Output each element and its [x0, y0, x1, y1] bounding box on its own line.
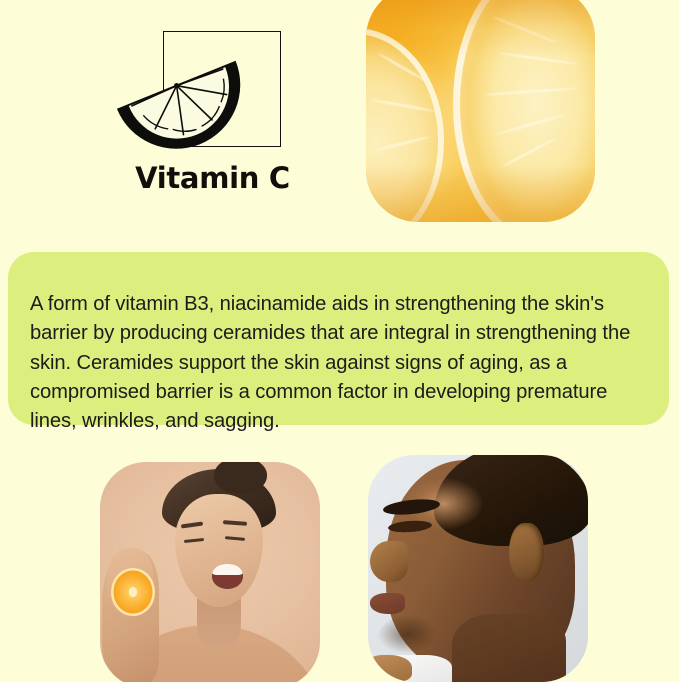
description-panel: A form of vitamin B3, niacinamide aids i…: [8, 252, 669, 425]
man-profile-photo: [368, 455, 588, 682]
man-fingers: [368, 655, 412, 682]
lemon-wedge-icon: [108, 34, 253, 154]
product-info-graphic: Vitamin C A form of vitamin B3, niacinam…: [0, 0, 679, 682]
woman-teeth: [212, 564, 243, 575]
logo-caption: Vitamin C: [0, 160, 340, 196]
lemon-photo-top-shadow: [366, 0, 595, 57]
man-nose: [370, 541, 407, 582]
vitamin-c-logo: Vitamin C: [0, 0, 340, 215]
man-ear: [509, 523, 544, 582]
woman-holding-orange-photo: [100, 462, 320, 682]
orange-half-icon: [111, 568, 155, 615]
lemon-photo-bottom-shadow: [366, 165, 595, 222]
woman-mouth: [212, 564, 243, 589]
description-text: A form of vitamin B3, niacinamide aids i…: [30, 290, 652, 436]
man-lips: [370, 593, 405, 613]
lemon-slices-photo: [366, 0, 595, 222]
man-neck: [452, 614, 566, 682]
orange-core: [129, 587, 138, 596]
